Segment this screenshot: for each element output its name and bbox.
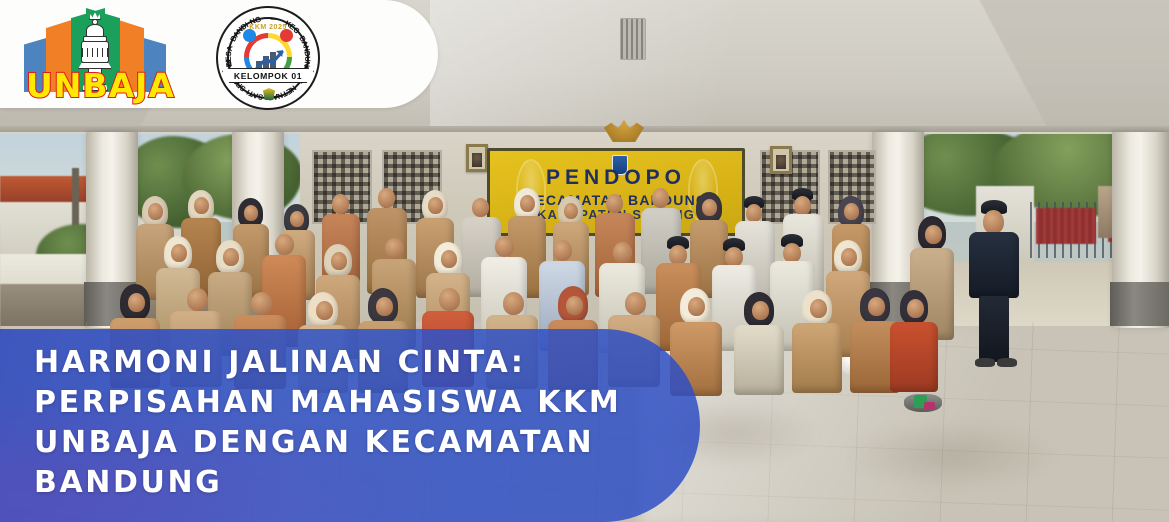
face xyxy=(752,301,769,320)
face xyxy=(652,188,669,208)
torso xyxy=(792,323,842,393)
face xyxy=(746,204,762,222)
face xyxy=(251,292,272,315)
face xyxy=(925,225,942,244)
shoe-right xyxy=(997,358,1017,367)
poster-title-line: HARMONI JALINAN CINTA: xyxy=(34,343,624,383)
face xyxy=(520,195,535,212)
face xyxy=(428,197,443,214)
face xyxy=(385,238,404,259)
face xyxy=(794,196,811,215)
logo-header-bar: UNBAJA DESA BANDING — KEC BANDUNG UNIVER… xyxy=(0,0,438,108)
face xyxy=(187,288,208,311)
shoe-left xyxy=(975,358,995,367)
poster-title-line: PERPISAHAN MAHASISWA KKM xyxy=(34,383,624,423)
face xyxy=(275,234,294,255)
torso-dark-polo xyxy=(969,232,1019,298)
face xyxy=(810,299,827,318)
face xyxy=(495,236,514,257)
face xyxy=(316,301,333,320)
poster-title: HARMONI JALINAN CINTA:PERPISAHAN MAHASIS… xyxy=(34,343,624,503)
tower-body xyxy=(81,41,109,63)
face xyxy=(223,248,239,266)
face xyxy=(702,199,717,216)
kkm-group-seal-logo: DESA BANDING — KEC BANDUNG UNIVERSITAS B… xyxy=(216,6,320,110)
face xyxy=(783,243,801,263)
face xyxy=(907,299,924,318)
torso-red xyxy=(890,322,938,392)
face xyxy=(472,198,489,217)
face xyxy=(606,194,623,213)
face xyxy=(613,242,632,263)
face xyxy=(669,245,687,265)
face xyxy=(439,288,460,311)
unbaja-wordmark: UNBAJA xyxy=(26,66,166,105)
face xyxy=(378,188,395,208)
face xyxy=(625,292,646,315)
face xyxy=(725,247,743,267)
face xyxy=(148,203,163,220)
face xyxy=(983,210,1004,234)
face xyxy=(331,252,347,270)
arrow-svg xyxy=(255,47,285,71)
unbaja-logo: UNBAJA xyxy=(24,6,164,102)
seal-growth-arrow-icon xyxy=(255,47,285,71)
face xyxy=(868,297,885,316)
face xyxy=(566,296,583,315)
face xyxy=(844,203,859,220)
title-banner: HARMONI JALINAN CINTA:PERPISAHAN MAHASIS… xyxy=(0,329,700,522)
face xyxy=(376,297,393,316)
legs xyxy=(979,296,1009,362)
seal-dot-red xyxy=(280,29,293,42)
seal-group-banner: KELOMPOK 01 xyxy=(222,68,314,83)
face xyxy=(194,197,209,214)
face xyxy=(564,203,578,219)
seal-dot-blue xyxy=(243,29,256,42)
face xyxy=(128,293,145,312)
face xyxy=(244,205,258,221)
face xyxy=(441,250,457,268)
torso xyxy=(734,325,784,395)
poster-title-line: BANDUNG xyxy=(34,463,624,503)
face xyxy=(290,211,304,227)
poster-canvas: PENDOPO KECAMATAN BANDUNG KABUPATEN SERA… xyxy=(0,0,1169,522)
face xyxy=(503,292,524,315)
face xyxy=(553,240,572,261)
face xyxy=(841,248,857,266)
face xyxy=(332,194,349,214)
seal-arc-char: S xyxy=(257,92,263,102)
face xyxy=(171,244,187,262)
poster-title-line: UNBAJA DENGAN KECAMATAN xyxy=(34,423,624,463)
face xyxy=(688,297,705,316)
